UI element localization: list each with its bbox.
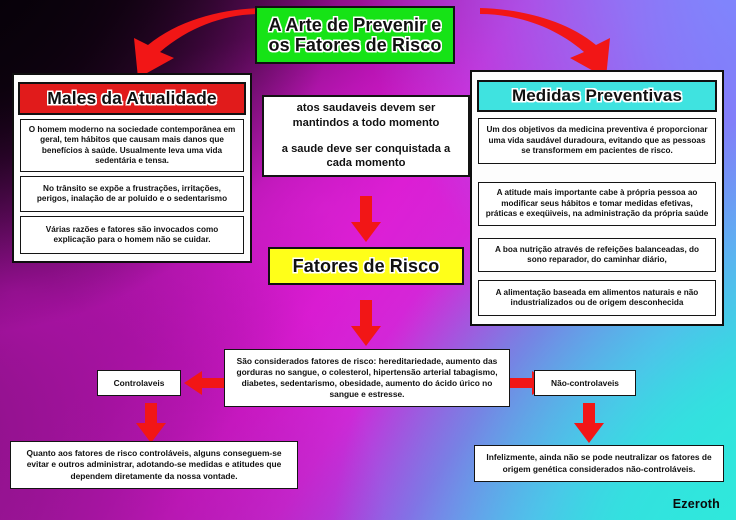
right-column-card: A atitude mais importante cabe à própria… [478, 182, 716, 226]
arrow-left-icon [184, 371, 224, 395]
noncontrollable-factors-box: Não-controlaveis [534, 370, 636, 396]
center-statement-line-2: a saude deve ser conquistada a cada mome… [272, 142, 460, 171]
arrow-down-icon [347, 300, 385, 346]
risk-factors-banner: Fatores de Risco [268, 247, 464, 285]
author-signature: Ezeroth [673, 497, 720, 511]
noncontrollable-conclusion-box: Infelizmente, ainda não se pode neutrali… [474, 445, 724, 482]
right-column-card: Um dos objetivos da medicina preventiva … [478, 118, 716, 164]
infographic-poster: A Arte de Prevenir e os Fatores de Risco… [0, 0, 736, 520]
left-column-card: Várias razões e fatores são invocados co… [20, 216, 244, 254]
left-column-card: O homem moderno na sociedade contemporân… [20, 119, 244, 172]
page-title: A Arte de Prevenir e os Fatores de Risco [255, 6, 455, 64]
arrow-down-icon [347, 196, 385, 242]
curved-arrow-left-icon [118, 8, 260, 80]
controllable-conclusion-box: Quanto aos fatores de risco controláveis… [10, 441, 298, 489]
controllable-factors-box: Controlaveis [97, 370, 181, 396]
risk-factors-list-box: São considerados fatores de risco: hered… [224, 349, 510, 407]
arrow-down-icon [132, 403, 170, 443]
arrow-down-icon [570, 403, 608, 443]
center-statement-line-1: atos saudaveis devem ser mantindos a tod… [272, 101, 460, 130]
right-column-heading: Medidas Preventivas [477, 80, 717, 112]
right-column-card: A alimentação baseada em alimentos natur… [478, 280, 716, 316]
center-statement-box: atos saudaveis devem ser mantindos a tod… [262, 95, 470, 177]
left-column-heading: Males da Atualidade [18, 82, 246, 115]
left-column-card: No trânsito se expõe a frustrações, irri… [20, 176, 244, 212]
right-column-card: A boa nutrição através de refeições bala… [478, 238, 716, 272]
